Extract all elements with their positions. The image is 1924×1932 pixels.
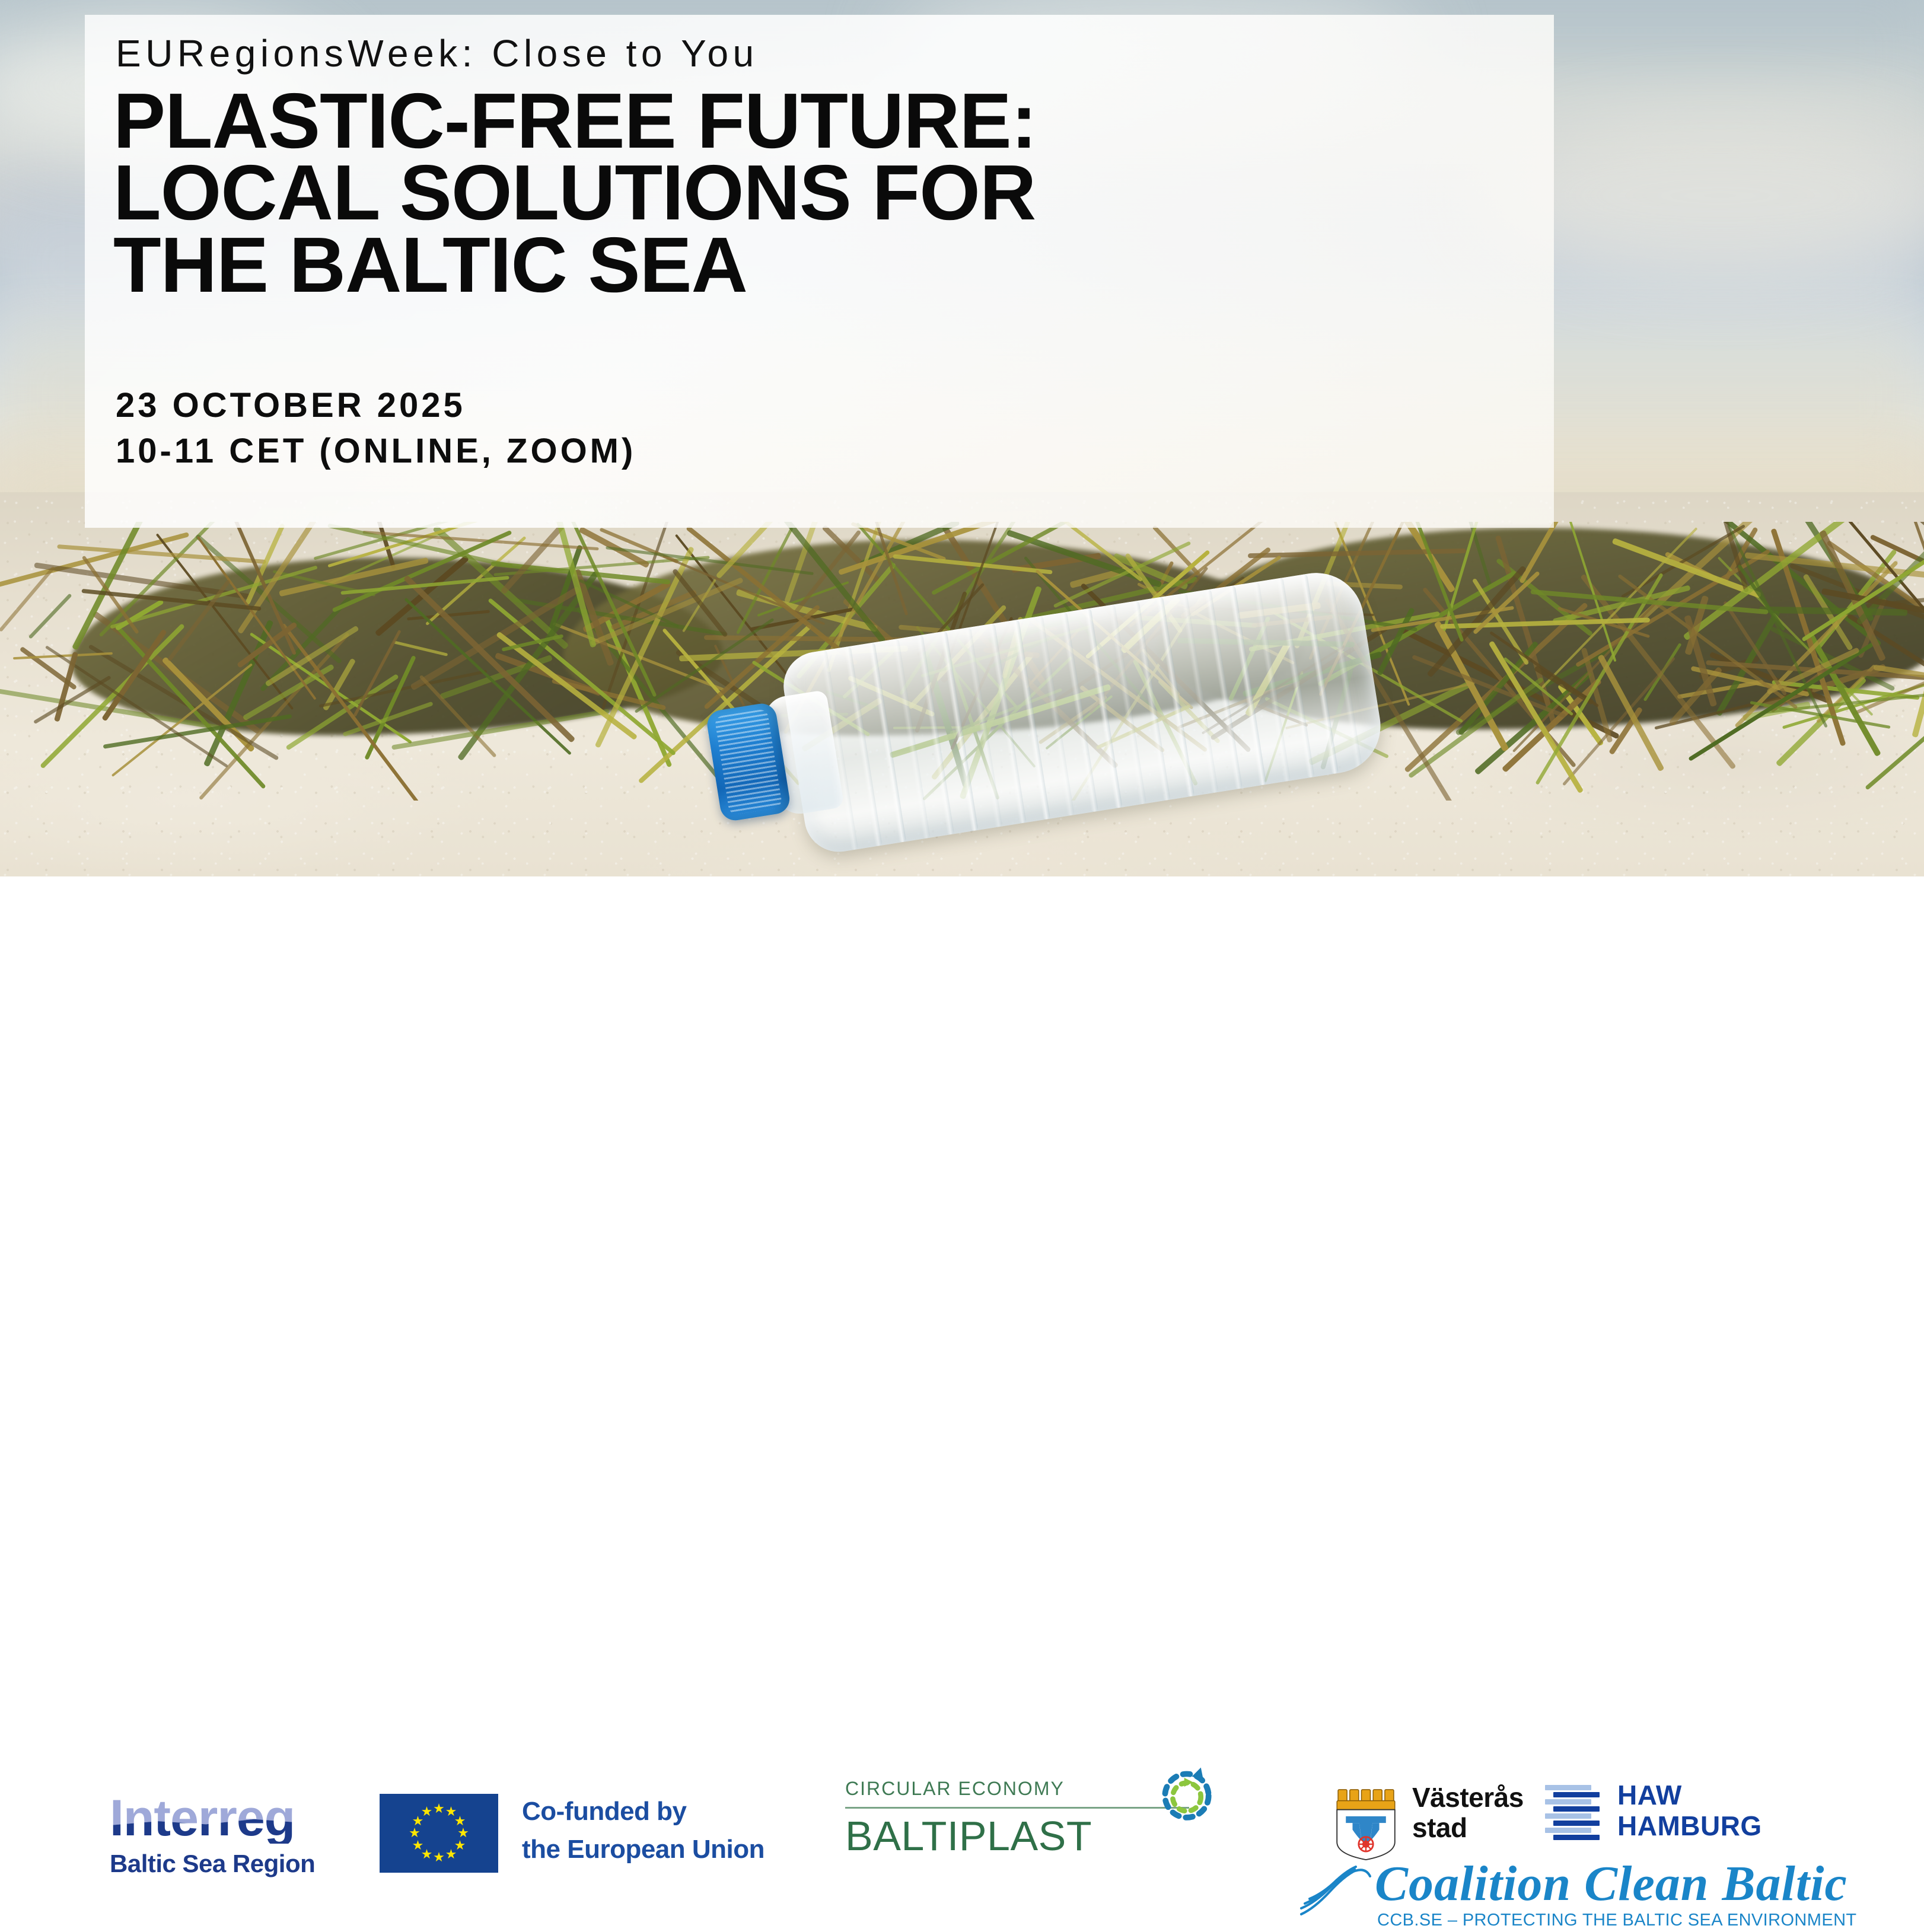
vasteras-line-2: stad — [1412, 1813, 1524, 1843]
haw-bar — [1545, 1813, 1591, 1819]
eu-star-icon: ★ — [454, 1815, 466, 1827]
haw-bar — [1553, 1792, 1600, 1797]
event-meta: 23 OCTOBER 2025 10-11 CET (ONLINE, ZOOM) — [116, 382, 636, 474]
eu-star-icon: ★ — [433, 1803, 445, 1815]
page-title: PLASTIC-FREE FUTURE: LOCAL SOLUTIONS FOR… — [113, 85, 1537, 301]
logo-interreg: Interreg Interreg Baltic Sea Region — [110, 1793, 359, 1870]
haw-bar — [1545, 1799, 1591, 1805]
logo-vasteras-stad: Västerås stad — [1331, 1773, 1527, 1862]
coat-of-arms-icon — [1331, 1788, 1400, 1861]
haw-bar — [1553, 1821, 1600, 1826]
logo-coalition-clean-baltic: Coalition Clean Baltic CCB.SE – PROTECTI… — [1299, 1861, 1756, 1932]
haw-wordmark: HAW HAMBURG — [1617, 1780, 1762, 1841]
eu-star-icon: ★ — [409, 1827, 421, 1839]
eu-line-2: the European Union — [522, 1831, 764, 1869]
eu-flag-icon: ★★★★★★★★★★★★ — [380, 1794, 498, 1873]
event-kicker: EURegionsWeek: Close to You — [116, 31, 759, 75]
headline-line-3: THE BALTIC SEA — [113, 229, 1537, 301]
haw-line-1: HAW — [1617, 1780, 1762, 1811]
vasteras-line-1: Västerås — [1412, 1783, 1524, 1813]
logo-baltiplast: CIRCULAR ECONOMY BALTIPLAST — [845, 1778, 1213, 1873]
eu-star-icon: ★ — [457, 1827, 469, 1839]
event-date: 23 OCTOBER 2025 — [116, 382, 636, 428]
eu-star-icon: ★ — [412, 1839, 423, 1851]
headline-line-2: LOCAL SOLUTIONS FOR — [113, 157, 1537, 228]
eu-funding-text: Co-funded by the European Union — [522, 1793, 764, 1869]
haw-bar — [1545, 1785, 1591, 1790]
ccb-wordmark: Coalition Clean Baltic — [1375, 1855, 1847, 1912]
haw-line-2: HAMBURG — [1617, 1811, 1762, 1842]
hero-photo: EURegionsWeek: Close to You PLASTIC-FREE… — [0, 0, 1924, 876]
haw-bars-icon — [1545, 1785, 1604, 1836]
title-panel: EURegionsWeek: Close to You PLASTIC-FREE… — [85, 15, 1554, 528]
interreg-wordmark: Interreg Interreg — [110, 1793, 359, 1847]
interreg-subtitle: Baltic Sea Region — [110, 1850, 359, 1878]
circular-arrows-icon — [1155, 1762, 1219, 1826]
divider — [845, 1807, 1189, 1809]
haw-bar — [1545, 1828, 1591, 1833]
partner-logo-strip: Interreg Interreg Baltic Sea Region ★★★★… — [0, 876, 1924, 1082]
eu-line-1: Co-funded by — [522, 1793, 764, 1831]
eu-star-icon: ★ — [445, 1848, 457, 1860]
haw-bar — [1553, 1806, 1600, 1812]
haw-bar — [1553, 1835, 1600, 1840]
wave-swirl-icon — [1299, 1863, 1382, 1918]
headline-line-1: PLASTIC-FREE FUTURE: — [113, 85, 1537, 157]
photo-credit: Credit: Maria Kray on Canva — [1919, 0, 1924, 36]
logo-european-union: ★★★★★★★★★★★★ Co-funded by the European U… — [380, 1793, 807, 1873]
vasteras-wordmark: Västerås stad — [1412, 1783, 1524, 1842]
event-time-location: 10-11 CET (ONLINE, ZOOM) — [116, 428, 636, 474]
eu-star-icon: ★ — [421, 1806, 433, 1818]
eu-star-icon: ★ — [433, 1851, 445, 1863]
logo-haw-hamburg: HAW HAMBURG — [1545, 1777, 1741, 1848]
grass-strand — [28, 593, 72, 639]
ccb-tagline: CCB.SE – PROTECTING THE BALTIC SEA ENVIR… — [1377, 1911, 1857, 1930]
